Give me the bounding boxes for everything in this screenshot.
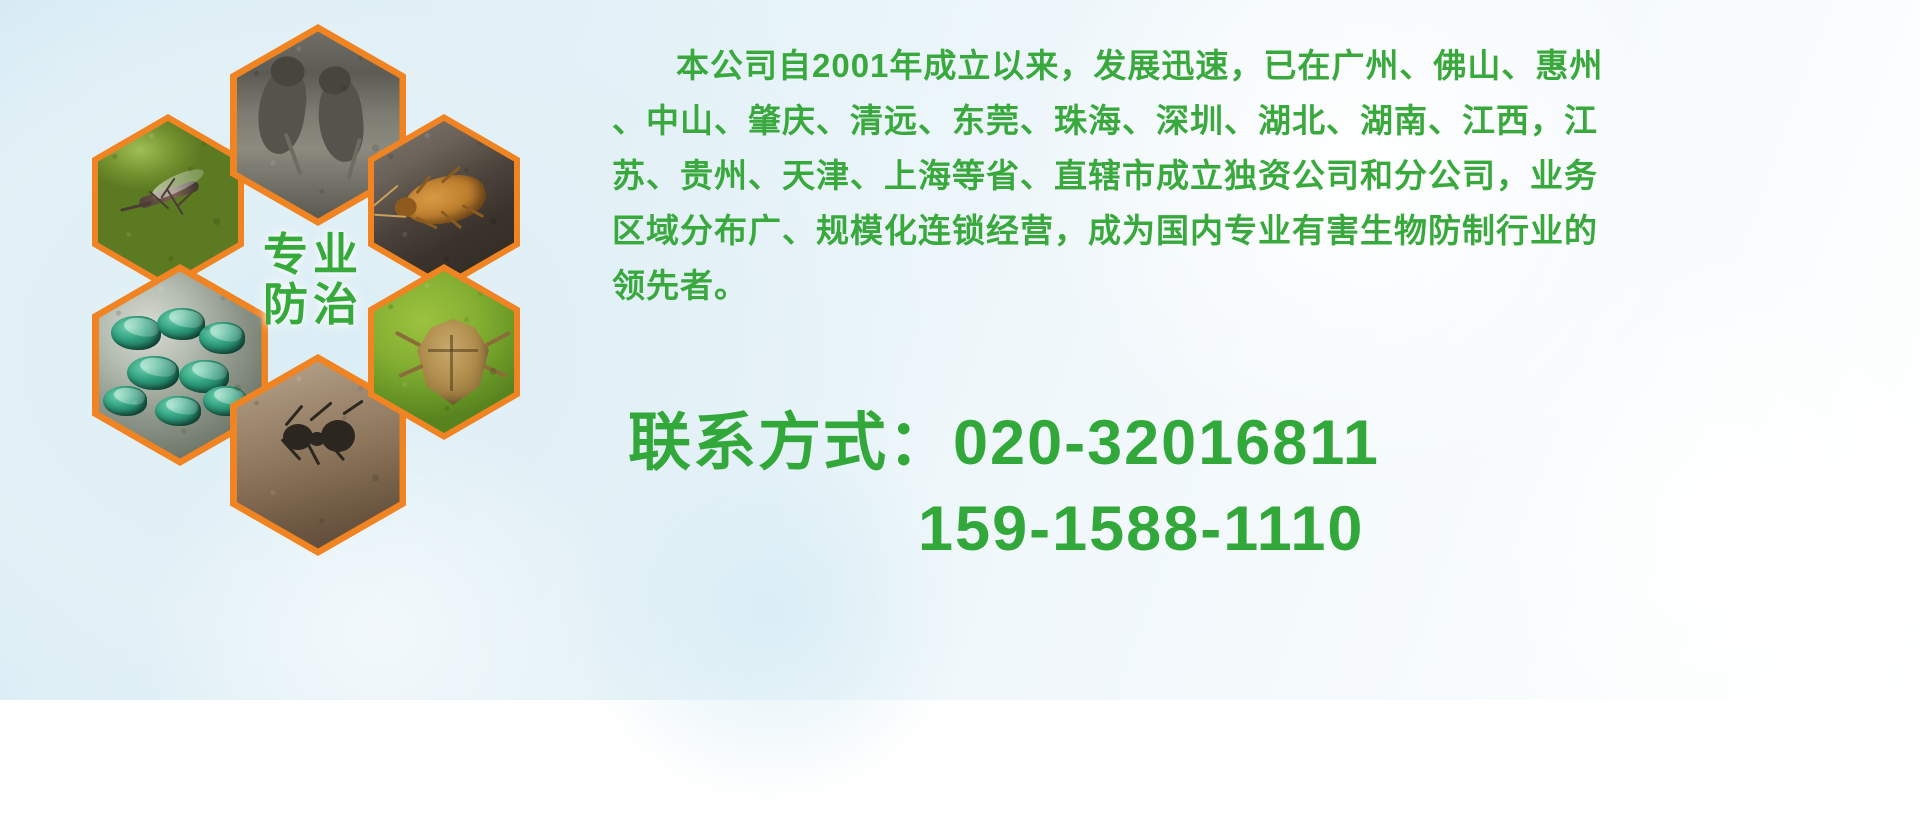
intro-line-3: 苏、贵州、天津、上海等省、直辖市成立独资公司和分公司，业务 — [612, 148, 1902, 203]
contact-phone-primary[interactable]: 联系方式：020-32016811 — [628, 400, 1908, 486]
hex-photo-mosquito — [92, 114, 244, 290]
intro-line-1: 本公司自2001年成立以来，发展迅速，已在广州、佛山、惠州 — [612, 38, 1902, 93]
brand-line-1: 专业 — [263, 230, 363, 280]
intro-line-2: 、中山、肇庆、清远、东莞、珠海、深圳、湖北、湖南、江西，江 — [612, 93, 1902, 148]
contact-phone-secondary[interactable]: 159-1588-1110 — [628, 486, 1908, 572]
intro-paragraph-block: 本公司自2001年成立以来，发展迅速，已在广州、佛山、惠州 、中山、肇庆、清远、… — [612, 38, 1902, 313]
pest-control-banner: 专业 防治 本公司自2001年成立以来，发展迅速，已在广州、佛山、惠州 、中山、… — [0, 0, 1920, 700]
intro-line-5: 领先者。 — [612, 258, 1902, 313]
intro-line-4: 区域分布广、规模化连锁经营，成为国内专业有害生物防制行业的 — [612, 203, 1902, 258]
hexagon-photo-cluster: 专业 防治 — [92, 14, 592, 574]
brand-line-2: 防治 — [263, 280, 363, 330]
contact-block: 联系方式：020-32016811 159-1588-1110 — [628, 400, 1908, 572]
